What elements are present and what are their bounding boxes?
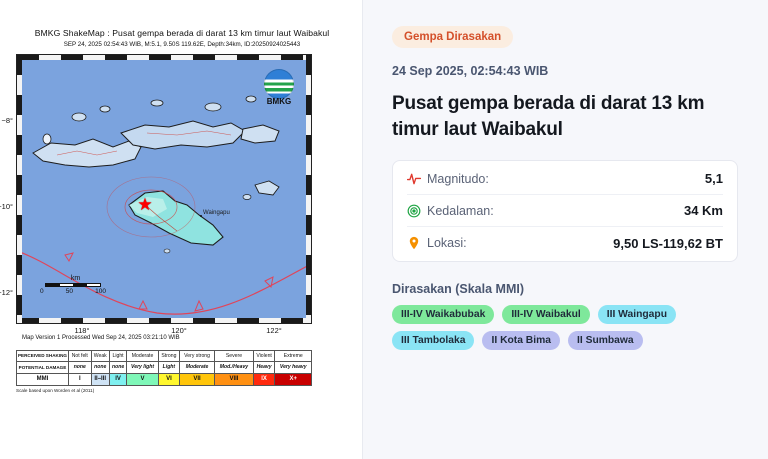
legend-perceived-1: Weak (91, 351, 109, 362)
legend-damage-4: Light (158, 362, 179, 373)
scalebar-bar (45, 283, 101, 287)
lat-label-8: −8° (1, 116, 13, 125)
legend-damage-5: Moderate (179, 362, 214, 373)
bmkg-globe-icon (264, 69, 294, 99)
scalebar-tick-2: 100 (95, 288, 106, 295)
city-dot (200, 215, 202, 217)
lon-label-118: 118° (75, 326, 90, 335)
bmkg-logo: BMKG (259, 69, 299, 106)
legend-mmi-2: IV (109, 373, 126, 386)
legend-damage-0: none (69, 362, 92, 373)
legend-damage-2: none (109, 362, 126, 373)
info-label-lokasi: Lokasi: (427, 236, 467, 250)
shakemap-panel: BMKG ShakeMap : Pusat gempa berada di da… (0, 0, 362, 459)
lat-label-12: −12° (0, 288, 13, 297)
felt-tag[interactable]: III Waingapu (598, 305, 676, 324)
info-label-magnitudo: Magnitudo: (427, 172, 489, 186)
info-row-kedalaman: Kedalaman: 34 Km (407, 195, 723, 227)
map-scalebar: km 0 50 100 (45, 275, 106, 295)
felt-tag[interactable]: III Tambolaka (392, 331, 474, 350)
shakemap-title: BMKG ShakeMap : Pusat gempa berada di da… (16, 28, 348, 38)
legend-row-label-mmi: MMI (17, 373, 69, 386)
scalebar-unit: km (45, 275, 106, 282)
info-value-kedalaman: 34 Km (684, 203, 723, 218)
felt-tag[interactable]: III-IV Waikabubak (392, 305, 494, 324)
scalebar-tick-0: 0 (40, 288, 44, 295)
info-label-kedalaman: Kedalaman: (427, 204, 494, 218)
legend-mmi-1: II–III (91, 373, 109, 386)
legend-perceived-4: Strong (158, 351, 179, 362)
legend-mmi-3: V (127, 373, 159, 386)
legend-mmi-8: X+ (275, 373, 312, 386)
legend-mmi-7: IX (253, 373, 275, 386)
bmkg-logo-text: BMKG (259, 97, 299, 106)
detail-panel: Gempa Dirasakan 24 Sep 2025, 02:54:43 WI… (362, 0, 768, 459)
legend-perceived-2: Light (109, 351, 126, 362)
legend-row-label-perceived: PERCEIVED SHAKING (17, 351, 69, 362)
legend-damage-8: Very heavy (275, 362, 312, 373)
legend-damage-1: none (91, 362, 109, 373)
felt-tag[interactable]: II Kota Bima (482, 331, 560, 350)
event-info-card: Magnitudo: 5,1 Kedalaman: 34 Km (392, 160, 738, 262)
event-datetime: 24 Sep 2025, 02:54:43 WIB (392, 64, 738, 78)
legend-mmi-0: I (69, 373, 92, 386)
city-label-waingapu: Waingapu (203, 210, 230, 216)
page-title: Pusat gempa berada di darat 13 km timur … (392, 91, 738, 143)
lon-label-120: 120° (171, 326, 187, 335)
info-value-lokasi: 9,50 LS-119,62 BT (613, 236, 723, 251)
felt-tag[interactable]: III-IV Waibakul (502, 305, 589, 324)
legend-row-label-damage: POTENTIAL DAMAGE (17, 362, 69, 373)
legend-perceived-8: Extreme (275, 351, 312, 362)
target-icon (407, 204, 427, 218)
map-version-note: Map Version 1 Processed Wed Sep 24, 2025… (22, 335, 348, 341)
map-canvas[interactable]: ★ Waingapu BMKG km 0 50 100 (16, 54, 312, 324)
page-root: BMKG ShakeMap : Pusat gempa berada di da… (0, 0, 768, 459)
info-row-magnitudo: Magnitudo: 5,1 (407, 163, 723, 195)
map-axis-left (17, 55, 22, 323)
map-axis-top (17, 55, 311, 60)
legend-mmi-4: VI (158, 373, 179, 386)
felt-section-title: Dirasakan (Skala MMI) (392, 282, 738, 296)
legend-damage-3: Very light (127, 362, 159, 373)
felt-tag-list: III-IV Waikabubak III-IV Waibakul III Wa… (392, 305, 738, 350)
scalebar-ticks: 0 50 100 (40, 288, 106, 295)
shakemap-subtitle: SEP 24, 2025 02:54:43 WIB, M:5.1, 9.50S … (16, 41, 348, 48)
legend-perceived-0: Not felt (69, 351, 92, 362)
pulse-icon (407, 172, 427, 186)
legend-perceived-7: Violent (253, 351, 275, 362)
legend-perceived-5: Very strong (179, 351, 214, 362)
info-value-magnitudo: 5,1 (705, 171, 723, 186)
legend-damage-6: Mod./Heavy (215, 362, 254, 373)
legend-row-mmi: MMI I II–III IV V VI VII VIII IX X+ (17, 373, 312, 386)
map-axis-right (306, 55, 311, 323)
felt-tag[interactable]: II Sumbawa (568, 331, 643, 350)
lat-label-10: −10° (0, 202, 13, 211)
status-badge: Gempa Dirasakan (392, 26, 513, 48)
legend-row-perceived: PERCEIVED SHAKING Not felt Weak Light Mo… (17, 351, 312, 362)
legend-perceived-3: Moderate (127, 351, 159, 362)
scalebar-tick-1: 50 (66, 288, 73, 295)
lon-label-122: 122° (266, 326, 282, 335)
map-pin-icon (407, 236, 427, 250)
legend-mmi-5: VII (179, 373, 214, 386)
legend-source-note: Scale based upon Worden et al (2011) (16, 388, 348, 393)
legend-damage-7: Heavy (253, 362, 275, 373)
info-row-lokasi: Lokasi: 9,50 LS-119,62 BT (407, 227, 723, 259)
panel-divider (362, 0, 363, 459)
map-axis-bottom (17, 318, 311, 323)
legend-mmi-6: VIII (215, 373, 254, 386)
map-container[interactable]: ★ Waingapu BMKG km 0 50 100 (16, 54, 312, 324)
legend-row-damage: POTENTIAL DAMAGE none none none Very lig… (17, 362, 312, 373)
legend-perceived-6: Severe (215, 351, 254, 362)
mmi-legend-table: PERCEIVED SHAKING Not felt Weak Light Mo… (16, 350, 312, 386)
